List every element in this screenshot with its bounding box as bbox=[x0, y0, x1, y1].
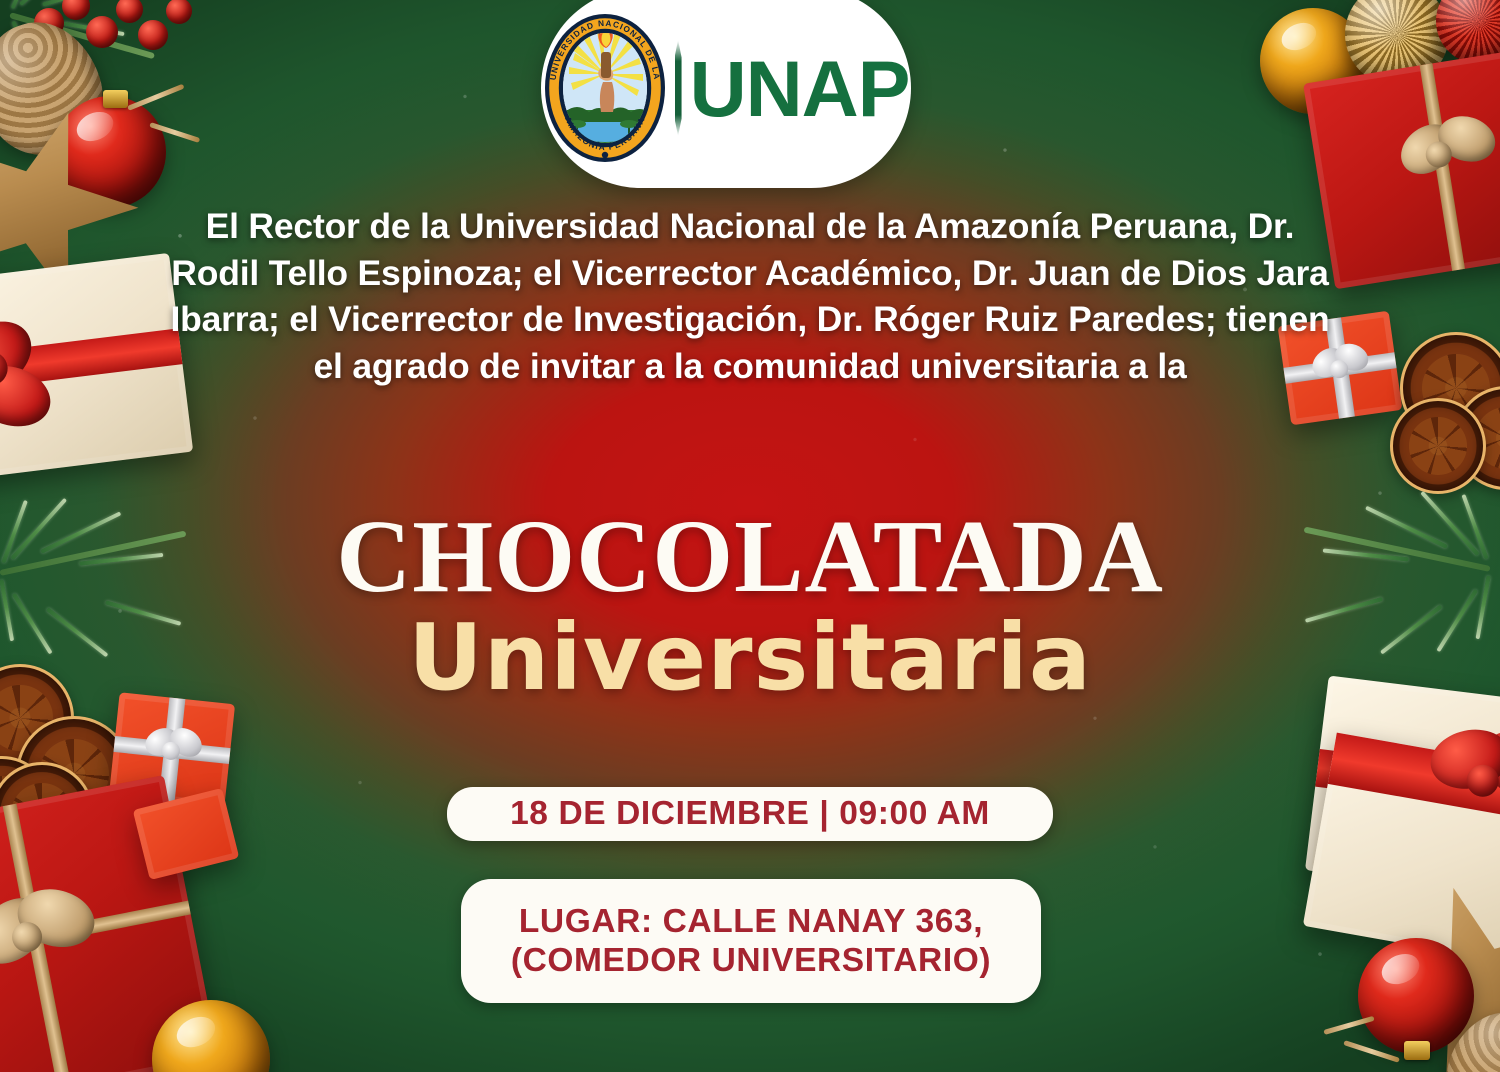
date-time-badge: 18 DE DICIEMBRE | 09:00 AM bbox=[447, 787, 1053, 841]
location-line-1: LUGAR: CALLE NANAY 363, bbox=[519, 902, 983, 941]
christmas-event-poster: UNIVERSIDAD NACIONAL DE LA AMAZONÍA PERU… bbox=[0, 0, 1500, 1072]
unap-logo: UNIVERSIDAD NACIONAL DE LA AMAZONÍA PERU… bbox=[541, 0, 911, 188]
event-title-main: CHOCOLATADA bbox=[0, 505, 1500, 609]
event-title-script: Universitaria bbox=[0, 612, 1500, 704]
date-time-text: 18 DE DICIEMBRE | 09:00 AM bbox=[510, 794, 990, 833]
invitation-text: El Rector de la Universidad Nacional de … bbox=[160, 203, 1340, 389]
location-badge: LUGAR: CALLE NANAY 363, (COMEDOR UNIVERS… bbox=[461, 879, 1041, 1003]
unap-seal-icon: UNIVERSIDAD NACIONAL DE LA AMAZONÍA PERU… bbox=[543, 12, 667, 164]
logo-divider-icon bbox=[675, 40, 682, 136]
unap-wordmark: UNAP bbox=[690, 49, 910, 128]
location-line-2: (COMEDOR UNIVERSITARIO) bbox=[511, 941, 991, 980]
